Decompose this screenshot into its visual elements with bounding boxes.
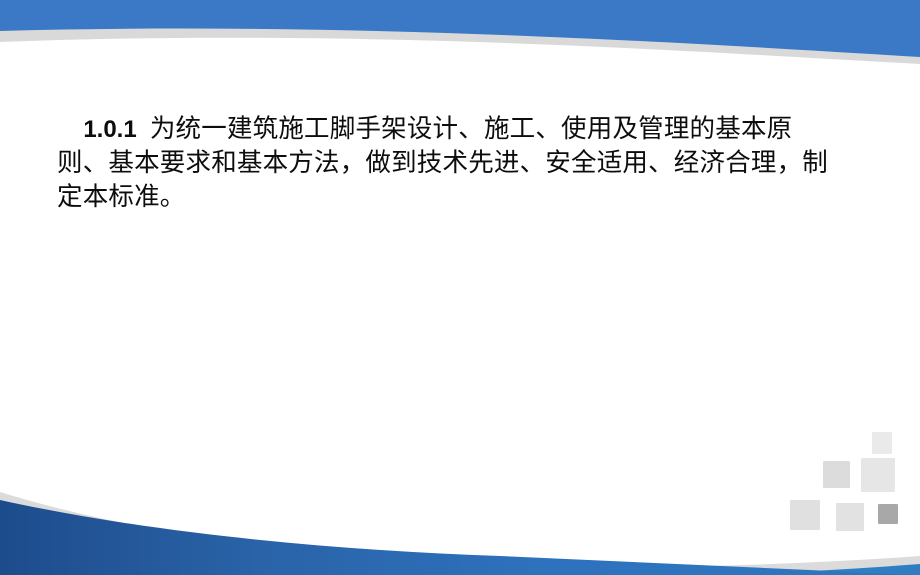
square-upper-left: [823, 461, 850, 488]
top-band-edge-shape: [0, 0, 920, 64]
clause-gap: [137, 114, 150, 143]
clause-paragraph: 为统一建筑施工脚手架设计、施工、使用及管理的基本原则、基本要求和基本方法，做到技…: [57, 114, 828, 211]
clause-number: 1.0.1: [83, 116, 136, 143]
square-lower-left: [790, 500, 820, 530]
square-top-small: [872, 432, 892, 454]
bottom-green-band-shape: [0, 502, 920, 575]
bottom-blue-band-shape: [0, 500, 920, 575]
top-band-shape: [0, 0, 920, 57]
square-lower-right: [878, 504, 898, 524]
square-upper-right: [861, 458, 895, 492]
bottom-band-edge-shape: [0, 492, 920, 575]
presentation-slide: 1.0.1 为统一建筑施工脚手架设计、施工、使用及管理的基本原则、基本要求和基本…: [0, 0, 920, 575]
slide-body-text: 1.0.1 为统一建筑施工脚手架设计、施工、使用及管理的基本原则、基本要求和基本…: [57, 78, 837, 248]
square-lower-mid: [836, 503, 864, 531]
